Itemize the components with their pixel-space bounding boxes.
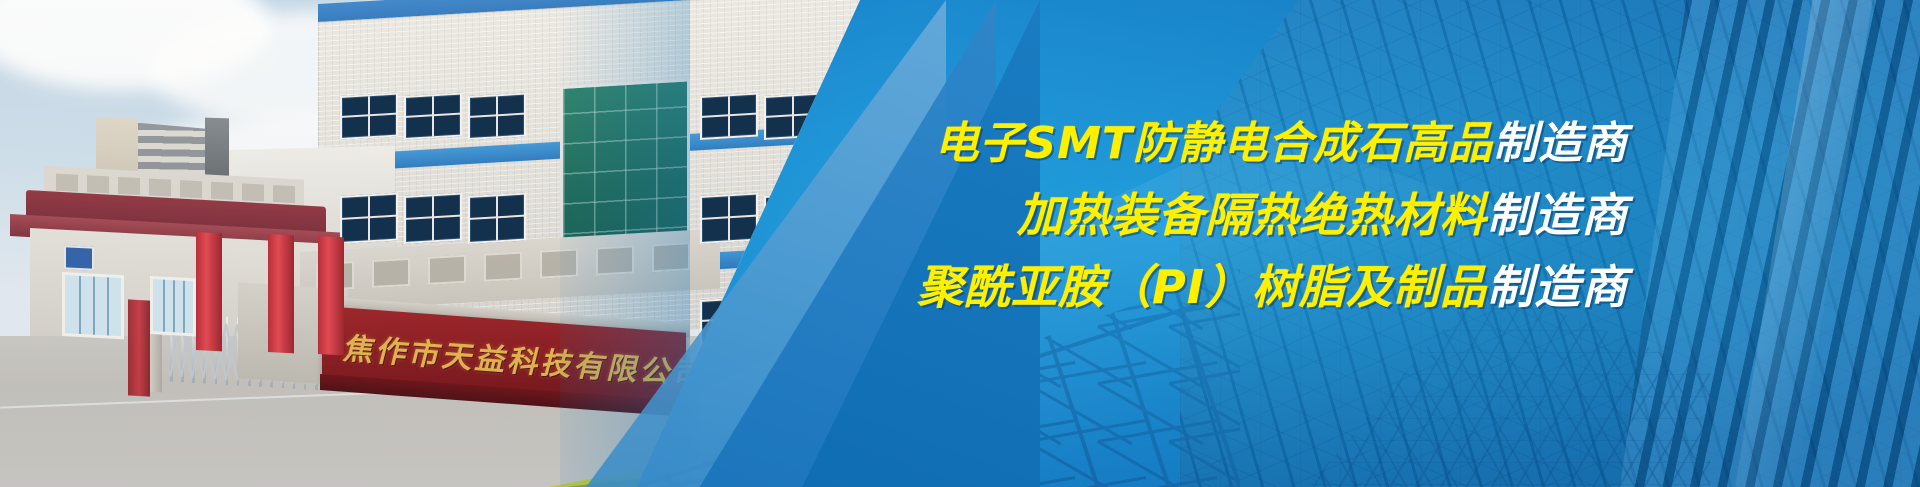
building-window (468, 193, 526, 244)
building-window (700, 193, 758, 244)
headline-line-1: 电子SMT防静电合成石高品制造商 (917, 122, 1628, 166)
gatehouse-parapet-slot (87, 175, 109, 193)
building-window (404, 193, 462, 244)
building-window (340, 93, 398, 140)
gatehouse-red-column (268, 234, 294, 353)
building-window (468, 93, 526, 140)
parapet-recess (428, 255, 466, 285)
headline-3-highlight: 聚酰亚胺（PI）树脂及制品 (917, 260, 1487, 314)
gatehouse-window (150, 276, 196, 336)
gatehouse-parapet-slot (180, 180, 202, 198)
blue-wall-plaque (64, 245, 94, 271)
headline-1-highlight: 电子SMT防静电合成石高品 (935, 118, 1494, 169)
gatehouse-parapet-slot (149, 179, 171, 197)
gatehouse-red-column (196, 232, 222, 351)
parapet-recess (652, 242, 690, 272)
company-hero-banner: 焦作市天益科技有限公司 电子SMT防静电合成石高品制造商 加热装备隔热绝热材料制… (0, 0, 1920, 487)
gatehouse-parapet-slot (273, 185, 295, 203)
parapet-recess (484, 252, 522, 282)
gate-red-post (128, 299, 150, 396)
building-window (700, 93, 758, 140)
building-window (340, 193, 398, 244)
gatehouse-parapet-slot (118, 177, 140, 195)
gatehouse-parapet-slot (56, 174, 78, 192)
building-window (404, 93, 462, 140)
headline-2-suffix: 制造商 (1487, 188, 1628, 242)
parapet-recess (540, 248, 578, 278)
gatehouse-parapet-slot (211, 182, 233, 200)
gatehouse-red-column (318, 236, 344, 355)
headline-3-suffix: 制造商 (1487, 260, 1628, 314)
parapet-recess (596, 245, 634, 275)
gatehouse-parapet-slot (242, 183, 264, 201)
headline-line-2: 加热装备隔热绝热材料制造商 (917, 192, 1628, 238)
gatehouse-window (62, 272, 124, 339)
headline-2-highlight: 加热装备隔热绝热材料 (1017, 188, 1487, 242)
headline-1-suffix: 制造商 (1493, 118, 1628, 169)
parapet-recess (372, 258, 410, 288)
headline-block: 电子SMT防静电合成石高品制造商 加热装备隔热绝热材料制造商 聚酰亚胺（PI）树… (917, 122, 1628, 310)
headline-line-3: 聚酰亚胺（PI）树脂及制品制造商 (917, 264, 1628, 310)
